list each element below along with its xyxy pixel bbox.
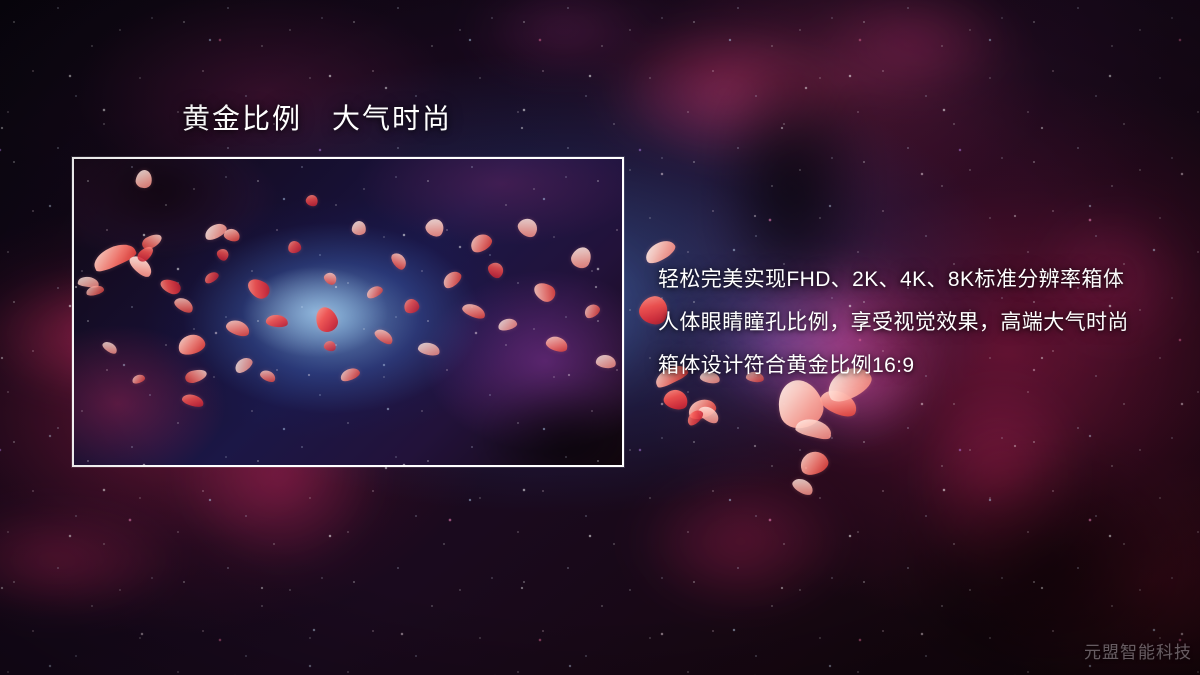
golden-ratio-preview-frame[interactable] [72,157,624,467]
preview-shadow-bottom-right [447,361,624,467]
page-title: 黄金比例 大气时尚 [182,102,452,136]
preview-shadow-top-left [72,157,293,275]
description-line-2: 人体眼睛瞳孔比例，享受视觉效果，高端大气时尚 [658,301,1158,344]
description-line-3: 箱体设计符合黄金比例16:9 [658,344,1158,387]
company-watermark: 元盟智能科技 [1084,638,1192,663]
presentation-slide: 黄金比例 大气时尚 轻松完美实现FHD、2K、4K、8K标准分辨率箱体 人体眼睛… [0,0,1200,675]
description-line-1: 轻松完美实现FHD、2K、4K、8K标准分辨率箱体 [658,258,1158,301]
feature-description-block: 轻松完美实现FHD、2K、4K、8K标准分辨率箱体 人体眼睛瞳孔比例，享受视觉效… [658,258,1158,387]
